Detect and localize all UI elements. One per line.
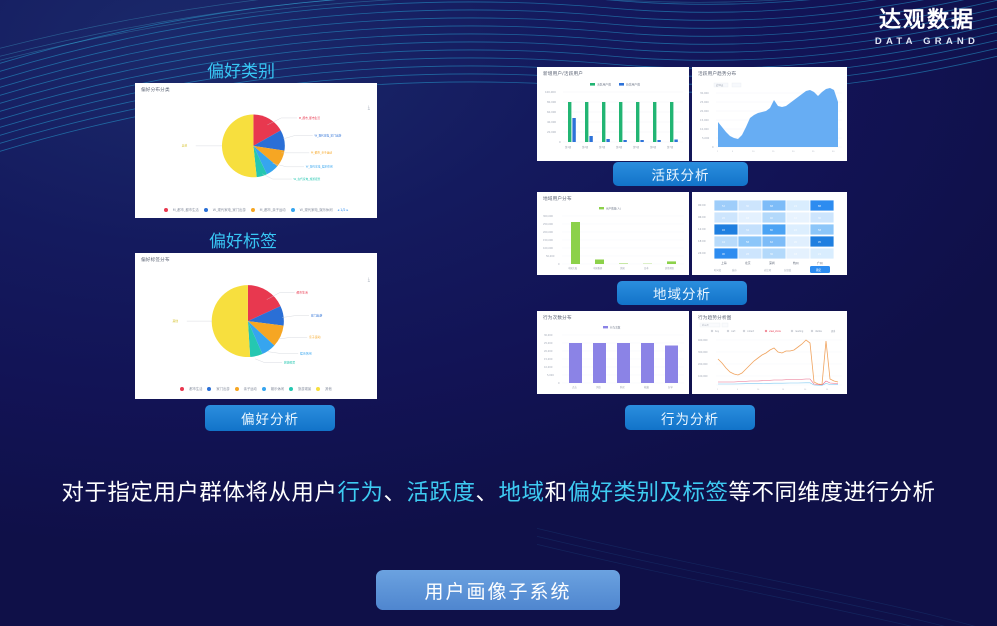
svg-text:0: 0 [559, 140, 561, 144]
paragraph-sep-2: 、 [475, 480, 498, 506]
logo-chinese-text: 达观数据 [875, 8, 979, 33]
svg-text:收藏: 收藏 [644, 385, 649, 389]
svg-text:购买: 购买 [620, 385, 625, 389]
heatmap-chart-region: 00:0006:0012:00 18:0024:00 [692, 192, 847, 275]
svg-text:第7周: 第7周 [667, 145, 674, 149]
svg-text:00:00: 00:00 [698, 203, 706, 207]
svg-text:10: 10 [757, 389, 759, 391]
svg-text:其他地区: 其他地区 [665, 266, 675, 270]
svg-text:20: 20 [792, 151, 795, 153]
svg-text:W_现代家电_家门出游: W_现代家电_家门出游 [314, 133, 341, 137]
svg-text:12:00: 12:00 [698, 227, 706, 231]
svg-text:行为次数: 行为次数 [610, 325, 621, 329]
svg-text:15,000: 15,000 [700, 118, 709, 122]
svg-text:5,000: 5,000 [547, 374, 554, 377]
svg-text:亲子运动: 亲子运动 [309, 334, 321, 339]
svg-text:旅游观景: 旅游观景 [284, 359, 296, 364]
svg-text:10,000: 10,000 [700, 127, 709, 131]
chart-card-preference-tag: 偏好标签分布 ⤓ 都市生活 家门出游 亲子运动 [135, 253, 377, 399]
badge-region-analysis[interactable]: 地域分析 [617, 281, 747, 305]
svg-text:分组值: 分组值 [784, 268, 792, 272]
svg-text:collect: collect [747, 330, 754, 333]
svg-text:0: 0 [712, 145, 714, 149]
slide-canvas: 达观数据 DATA GRAND 偏好类别 偏好分布分类 ⤓ [0, 0, 997, 626]
pie-legend-preference-category[interactable]: M_都市_都市生活 W_现代家电_家门出游 M_都市_亲子运动 W_现代家电_娱… [135, 207, 377, 212]
svg-text:分享: 分享 [668, 385, 673, 389]
brand-logo: 达观数据 DATA GRAND [875, 8, 979, 47]
svg-text:5: 5 [737, 389, 738, 391]
svg-text:浏览: 浏览 [596, 385, 601, 389]
logo-english-text: DATA GRAND [875, 36, 979, 47]
highlight-behavior: 行为 [337, 480, 383, 506]
svg-text:M_都市_亲子运动: M_都市_亲子运动 [311, 151, 332, 155]
paragraph-part-5: 等不同维度进行分析 [729, 480, 936, 506]
chart-title-region-bar: 地域用户分布 [537, 192, 689, 202]
svg-text:1: 1 [717, 151, 719, 153]
svg-text:第3周: 第3周 [599, 145, 606, 149]
svg-text:view_show: view_show [769, 330, 781, 333]
svg-text:用户数量(人): 用户数量(人) [606, 206, 621, 210]
svg-text:25: 25 [812, 151, 815, 153]
chart-card-region-heatmap: 00:0006:0012:00 18:0024:00 [692, 192, 847, 275]
svg-text:家门出游: 家门出游 [311, 313, 323, 318]
svg-text:40,000: 40,000 [547, 120, 556, 124]
svg-text:更多: 更多 [831, 329, 836, 333]
svg-text:50,000: 50,000 [546, 255, 555, 258]
svg-text:近30天: 近30天 [716, 83, 724, 87]
svg-text:25: 25 [826, 389, 828, 391]
svg-text:0: 0 [558, 382, 560, 385]
chart-card-preference-category: 偏好分布分类 ⤓ M_都市_都市生活 W_现代家 [135, 83, 377, 218]
svg-text:15,000: 15,000 [544, 358, 553, 361]
badge-preference-analysis[interactable]: 偏好分析 [205, 405, 335, 431]
svg-text:20,000: 20,000 [547, 130, 556, 134]
chart-card-activity-area: 活跃用户趋势分布 30,00025,00020,000 15,00010,000… [692, 67, 847, 161]
svg-text:中国大陆: 中国大陆 [568, 266, 578, 270]
section-title-preference-category: 偏好类别 [207, 57, 275, 82]
svg-text:日本: 日本 [644, 266, 649, 270]
svg-text:城市: 城市 [732, 268, 737, 272]
svg-text:15: 15 [782, 389, 784, 391]
svg-text:美国: 美国 [620, 266, 625, 270]
chart-title-preference-category: 偏好分布分类 [135, 83, 377, 93]
svg-text:活跃用户数: 活跃用户数 [597, 83, 611, 87]
highlight-region: 地域 [499, 480, 545, 506]
svg-text:18:00: 18:00 [698, 239, 706, 243]
svg-text:5: 5 [732, 151, 734, 153]
svg-text:深圳: 深圳 [769, 261, 775, 265]
svg-text:W_古代家电_旅游观景: W_古代家电_旅游观景 [294, 177, 321, 181]
svg-text:dislike: dislike [815, 330, 823, 333]
svg-text:15: 15 [772, 151, 775, 153]
pie-legend-preference-tag[interactable]: 都市生活 家门出游 亲子运动 娱乐休闲 旅游观景 其他 [135, 386, 377, 391]
svg-text:第6周: 第6周 [650, 145, 657, 149]
svg-text:25,000: 25,000 [700, 100, 709, 104]
svg-text:上海: 上海 [721, 261, 727, 265]
paragraph-part-4: 和 [545, 480, 568, 506]
svg-text:第2周: 第2周 [582, 145, 589, 149]
chart-card-activity-bar: 新增用户/活跃用户 100,00080,000 60,00040,000 20,… [537, 67, 689, 161]
svg-text:30,000: 30,000 [544, 334, 553, 337]
highlight-preference: 偏好类别及标签 [568, 480, 729, 506]
chart-card-region-bar: 地域用户分布 300,000250,000200,000 150,000100,… [537, 192, 689, 275]
svg-text:06:00: 06:00 [698, 215, 706, 219]
svg-text:时间段: 时间段 [714, 268, 722, 272]
svg-text:新增用户数: 新增用户数 [626, 83, 640, 87]
svg-text:80,000: 80,000 [547, 100, 556, 104]
chart-card-behavior-line: 行为趋势分析图 近30天 buy cart collect view_show … [692, 311, 847, 394]
svg-text:100,000: 100,000 [698, 375, 708, 378]
svg-text:其他: 其他 [172, 318, 178, 323]
svg-text:10,000: 10,000 [544, 366, 553, 369]
svg-text:300,000: 300,000 [698, 351, 708, 354]
svg-text:reading: reading [795, 330, 804, 333]
description-paragraph: 对于指定用户群体将从用户行为、活跃度、地域和偏好类别及标签等不同维度进行分析 [0, 476, 997, 511]
svg-text:第1周: 第1周 [565, 145, 572, 149]
paragraph-sep-1: 、 [383, 480, 406, 506]
svg-text:1: 1 [717, 389, 718, 391]
area-chart-activity: 30,00025,00020,000 15,00010,0005,000 0 1… [692, 79, 847, 159]
svg-text:M_都市_都市生活: M_都市_都市生活 [299, 116, 320, 120]
svg-text:对比项: 对比项 [764, 268, 772, 272]
svg-text:广州: 广州 [817, 261, 823, 265]
chart-title-behavior-bar: 行为次数分布 [537, 311, 689, 321]
svg-text:30: 30 [832, 151, 835, 153]
badge-user-profile-system[interactable]: 用户画像子系统 [376, 570, 620, 610]
bar-chart-region: 300,000250,000200,000 150,000100,00050,0… [537, 204, 689, 274]
svg-text:第5周: 第5周 [633, 145, 640, 149]
paragraph-part-1: 对于指定用户群体将从用户 [61, 480, 337, 506]
section-title-preference-tag: 偏好标签 [209, 227, 277, 252]
svg-text:250,000: 250,000 [543, 223, 553, 226]
chart-title-activity-bar: 新增用户/活跃用户 [537, 67, 689, 77]
svg-text:5,000: 5,000 [702, 136, 710, 140]
svg-text:200,000: 200,000 [698, 363, 708, 366]
svg-text:0: 0 [558, 263, 560, 266]
chart-title-behavior-line: 行为趋势分析图 [692, 311, 847, 321]
svg-text:20: 20 [804, 389, 806, 391]
svg-text:第4周: 第4周 [616, 145, 623, 149]
svg-text:其他: 其他 [182, 144, 188, 148]
badge-activity-analysis[interactable]: 活跃分析 [613, 162, 748, 186]
svg-text:buy: buy [715, 330, 720, 333]
svg-text:25,000: 25,000 [544, 342, 553, 345]
highlight-activity: 活跃度 [406, 480, 475, 506]
svg-text:中国香港: 中国香港 [593, 266, 603, 270]
svg-text:300,000: 300,000 [543, 215, 553, 218]
svg-text:W_现代家电_娱乐休闲: W_现代家电_娱乐休闲 [306, 165, 333, 169]
svg-text:60,000: 60,000 [547, 110, 556, 114]
svg-text:20,000: 20,000 [544, 350, 553, 353]
bar-chart-activity: 100,00080,000 60,00040,000 20,0000 [537, 81, 689, 159]
svg-text:100,000: 100,000 [543, 247, 553, 250]
svg-text:娱乐休闲: 娱乐休闲 [300, 350, 312, 355]
svg-text:北京: 北京 [745, 261, 751, 265]
svg-text:cart: cart [731, 330, 735, 333]
chart-title-activity-area: 活跃用户趋势分布 [692, 67, 847, 77]
svg-text:150,000: 150,000 [543, 239, 553, 242]
svg-text:24:00: 24:00 [698, 251, 706, 255]
chart-card-behavior-bar: 行为次数分布 30,00025,00020,000 15,00010,0005,… [537, 311, 689, 394]
svg-text:杭州: 杭州 [793, 261, 799, 265]
svg-text:20,000: 20,000 [700, 109, 709, 113]
bar-chart-behavior: 30,00025,00020,000 15,00010,0005,000 0 点… [537, 323, 689, 393]
svg-text:100,000: 100,000 [545, 90, 556, 94]
svg-text:10: 10 [752, 151, 755, 153]
pie-chart-preference-category: M_都市_都市生活 W_现代家电_家门出游 M_都市_亲子运动 W_现代家电_娱… [135, 97, 377, 193]
svg-text:200,000: 200,000 [543, 231, 553, 234]
line-chart-behavior: 近30天 buy cart collect view_show reading … [692, 321, 847, 393]
svg-text:30,000: 30,000 [700, 91, 709, 95]
svg-text:确定: 确定 [816, 268, 822, 272]
svg-text:都市生活: 都市生活 [296, 289, 308, 294]
badge-behavior-analysis[interactable]: 行为分析 [625, 405, 755, 430]
svg-text:点击: 点击 [572, 385, 577, 389]
pie-chart-preference-tag: 都市生活 家门出游 亲子运动 娱乐休闲 旅游观景 其他 [135, 269, 377, 375]
svg-text:400,000: 400,000 [698, 339, 708, 342]
chart-title-preference-tag: 偏好标签分布 [135, 253, 377, 263]
